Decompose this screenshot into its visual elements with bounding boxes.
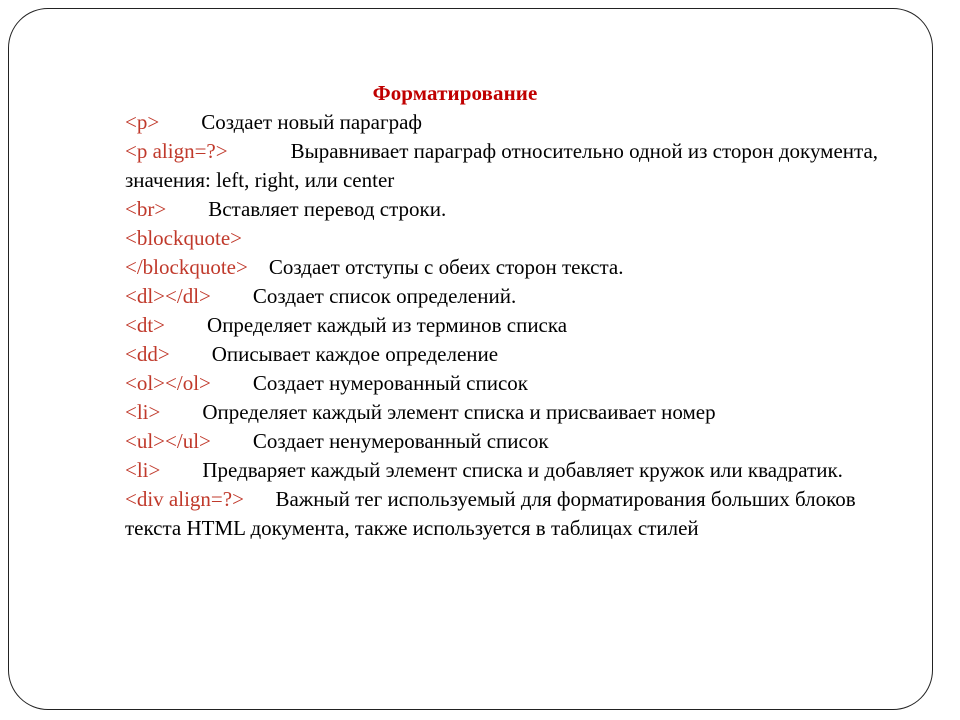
- tag-desc-separator: [159, 110, 201, 134]
- tag-description: Создает ненумерованный список: [253, 429, 549, 453]
- html-tag-name: <li>: [125, 400, 160, 424]
- tag-description: Создает отступы с обеих сторон текста.: [269, 255, 624, 279]
- tag-desc-separator: [244, 487, 276, 511]
- slide: Форматирование <p> Создает новый парагра…: [0, 0, 960, 720]
- tag-desc-separator: [166, 197, 208, 221]
- list-item: <br> Вставляет перевод строки.: [125, 195, 915, 224]
- list-item: <blockquote>: [125, 224, 915, 253]
- tag-desc-separator: [160, 400, 202, 424]
- tag-desc-separator: [170, 342, 212, 366]
- list-item: <dd> Описывает каждое определение: [125, 340, 915, 369]
- html-tag-name: <p>: [125, 110, 159, 134]
- page-title: Форматирование: [125, 80, 915, 106]
- list-item: <div align=?> Важный тег используемый дл…: [125, 485, 915, 543]
- list-item: <ul></ul> Создает ненумерованный список: [125, 427, 915, 456]
- tag-description: Создает нумерованный список: [253, 371, 528, 395]
- html-tag-name: <br>: [125, 197, 166, 221]
- tag-description: Описывает каждое определение: [212, 342, 498, 366]
- html-tag-name: <ul></ul>: [125, 429, 211, 453]
- html-tag-name: <p align=?>: [125, 139, 228, 163]
- list-item: <li> Определяет каждый элемент списка и …: [125, 398, 915, 427]
- html-tag-name: </blockquote>: [125, 255, 248, 279]
- html-tag-name: <ol></ol>: [125, 371, 211, 395]
- list-item: <p> Создает новый параграф: [125, 108, 915, 137]
- html-tag-name: <dt>: [125, 313, 165, 337]
- list-item: <ol></ol> Создает нумерованный список: [125, 369, 915, 398]
- list-item: <li> Предваряет каждый элемент списка и …: [125, 456, 915, 485]
- list-item: <dl></dl> Создает список определений.: [125, 282, 915, 311]
- tag-desc-separator: [248, 255, 269, 279]
- tag-description: Предваряет каждый элемент списка и добав…: [202, 458, 843, 482]
- tag-reference-list: <p> Создает новый параграф <p align=?> В…: [125, 108, 915, 543]
- list-item: </blockquote> Создает отступы с обеих ст…: [125, 253, 915, 282]
- html-tag-name: <blockquote>: [125, 226, 242, 250]
- tag-desc-separator: [211, 429, 253, 453]
- tag-desc-separator: [211, 371, 253, 395]
- tag-description: Создает новый параграф: [201, 110, 422, 134]
- tag-desc-separator: [211, 284, 253, 308]
- list-item: <p align=?> Выравнивает параграф относит…: [125, 137, 915, 195]
- tag-description: Определяет каждый из терминов списка: [207, 313, 567, 337]
- tag-description: Определяет каждый элемент списка и присв…: [202, 400, 715, 424]
- tag-description: Вставляет перевод строки.: [208, 197, 446, 221]
- html-tag-name: <div align=?>: [125, 487, 244, 511]
- tag-desc-separator: [228, 139, 291, 163]
- tag-desc-separator: [165, 313, 207, 337]
- html-tag-name: <li>: [125, 458, 160, 482]
- tag-description: Создает список определений.: [253, 284, 516, 308]
- slide-content: Форматирование <p> Создает новый парагра…: [125, 80, 915, 543]
- html-tag-name: <dd>: [125, 342, 170, 366]
- tag-desc-separator: [160, 458, 202, 482]
- list-item: <dt> Определяет каждый из терминов списк…: [125, 311, 915, 340]
- html-tag-name: <dl></dl>: [125, 284, 211, 308]
